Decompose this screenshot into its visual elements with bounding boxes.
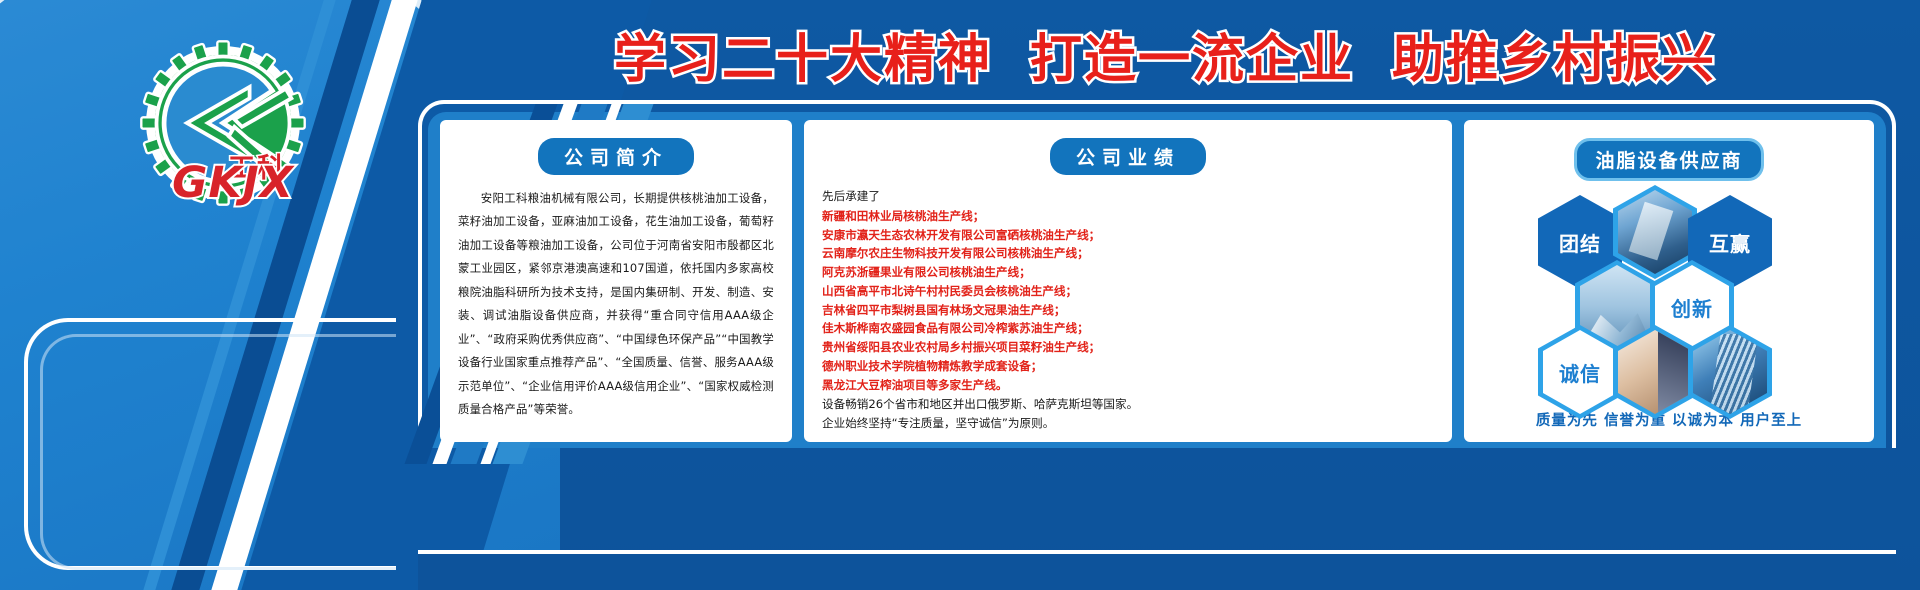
decor-lower-left-frame-inner [40, 334, 396, 570]
supplier-slogan: 质量为先 信誉为重 以诚为本 用户至上 [1482, 409, 1856, 430]
performance-item: 黑龙江大豆榨油项目等多家生产线。 [822, 376, 1434, 395]
hex-label: 创新 [1671, 293, 1713, 322]
performance-item: 吉林省四平市梨树县国有林场文冠果油生产线； [822, 301, 1434, 320]
skyscraper-photo-icon [1693, 330, 1767, 414]
performance-item: 山西省高平市北诗午村村民委员会核桃油生产线； [822, 282, 1434, 301]
headline-part-2: 打造一流企业 [1030, 17, 1354, 92]
panel-company-intro: 公司简介 安阳工科粮油机械有限公司，长期提供核桃油加工设备，菜籽油加工设备，亚麻… [440, 120, 792, 442]
panel-supplier: 油脂设备供应商 团结互赢创新诚信 质量为先 信誉为重 以诚为本 用户至上 [1464, 120, 1874, 442]
handshake-photo-icon [1618, 330, 1692, 414]
performance-tail: 设备畅销26个省市和地区并出口俄罗斯、哈萨克斯坦等国家。企业始终坚持“专注质量，… [822, 395, 1434, 433]
performance-tail-line: 设备畅销26个省市和地区并出口俄罗斯、哈萨克斯坦等国家。 [822, 395, 1434, 414]
hex-label: 互赢 [1709, 228, 1751, 257]
performance-item: 安康市瀛天生态农林开发有限公司富硒核桃油生产线； [822, 226, 1434, 245]
bottom-band [418, 554, 1896, 590]
performance-list: 新疆和田林业局核桃油生产线；安康市瀛天生态农林开发有限公司富硒核桃油生产线；云南… [822, 207, 1434, 395]
hexagon-cluster: 团结互赢创新诚信 [1482, 191, 1856, 405]
panel-title-supplier: 油脂设备供应商 [1574, 138, 1763, 181]
headline-part-3: 助推乡村振兴 [1392, 17, 1716, 92]
panel-row: 公司简介 安阳工科粮油机械有限公司，长期提供核桃油加工设备，菜籽油加工设备，亚麻… [440, 120, 1874, 442]
headline-banner: 学习二十大精神 打造一流企业 助推乡村振兴 [430, 16, 1900, 92]
performance-item: 阿克苏浙疆果业有限公司核桃油生产线； [822, 263, 1434, 282]
performance-item: 云南摩尔农庄生物科技开发有限公司核桃油生产线； [822, 244, 1434, 263]
performance-item: 新疆和田林业局核桃油生产线； [822, 207, 1434, 226]
aircraft-carrier-photo-icon [1618, 190, 1692, 274]
logo-latin-name: GKJX [138, 158, 328, 208]
performance-item: 德州职业技术学院植物精炼教学成套设备； [822, 357, 1434, 376]
performance-tail-line: 企业始终坚持“专注质量，坚守诚信”为原则。 [822, 414, 1434, 433]
panel-title-performance: 公司业绩 [1050, 138, 1206, 175]
company-intro-body: 安阳工科粮油机械有限公司，长期提供核桃油加工设备，菜籽油加工设备，亚麻油加工设备… [458, 187, 774, 422]
display-board: 工科 GKJX 学习二十大精神 打造一流企业 助推乡村振兴 公司简介 安阳工科粮… [0, 0, 1920, 590]
hex-label: 团结 [1559, 228, 1601, 257]
panel-company-performance: 公司业绩 先后承建了 新疆和田林业局核桃油生产线；安康市瀛天生态农林开发有限公司… [804, 120, 1452, 442]
panel-title-intro: 公司简介 [538, 138, 694, 175]
hex-label: 诚信 [1559, 358, 1601, 387]
performance-item: 佳木斯桦南农盛园食品有限公司冷榨紫苏油生产线； [822, 319, 1434, 338]
performance-lead: 先后承建了 [822, 187, 1434, 206]
performance-item: 贵州省绥阳县农业农村局乡村振兴项目菜籽油生产线； [822, 338, 1434, 357]
headline-part-1: 学习二十大精神 [614, 17, 992, 92]
